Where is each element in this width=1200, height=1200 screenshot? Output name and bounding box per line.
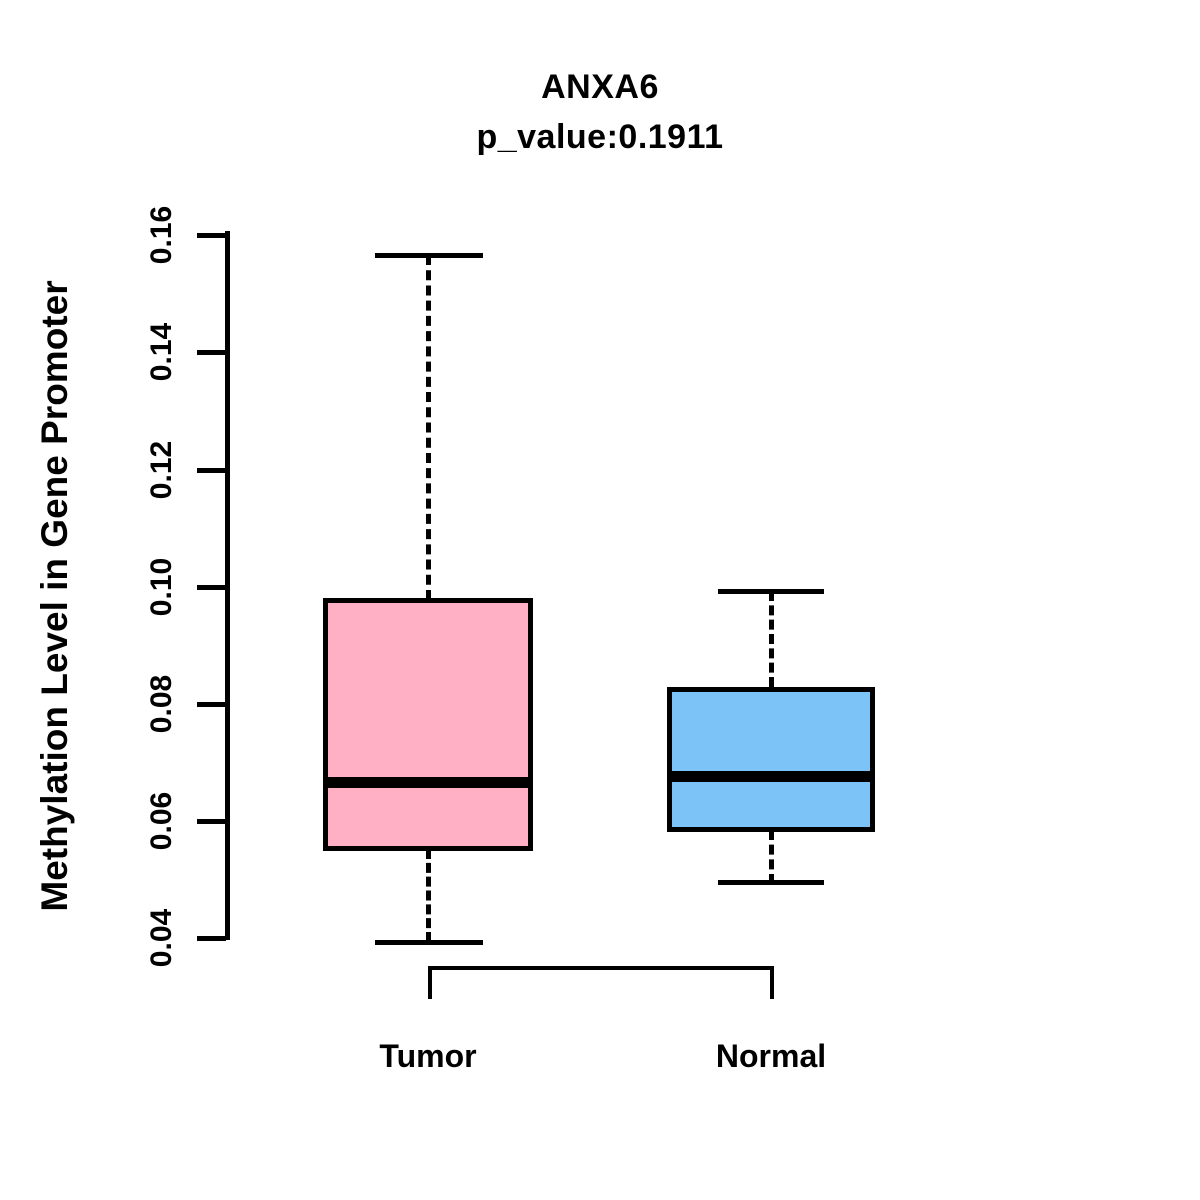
chart-title: ANXA6: [0, 68, 1200, 107]
tumor-lower-whisker: [426, 849, 431, 942]
y-tick-label: 0.04: [145, 883, 179, 993]
y-tick-mark: [197, 936, 226, 941]
significance-bracket-top: [428, 966, 774, 970]
y-tick-mark: [197, 702, 226, 707]
tumor-upper-whisker-cap: [375, 253, 483, 258]
significance-bracket-right-arm: [770, 966, 774, 999]
tumor-box[interactable]: [323, 598, 533, 851]
y-tick-label: 0.16: [145, 180, 179, 290]
y-tick-label: 0.08: [145, 649, 179, 759]
normal-median-line: [667, 771, 875, 782]
normal-lower-whisker: [769, 830, 774, 884]
normal-lower-whisker-cap: [718, 880, 824, 885]
y-tick-mark: [197, 468, 226, 473]
y-tick-label: 0.14: [145, 297, 179, 407]
significance-bracket-left-arm: [428, 966, 432, 999]
tumor-upper-whisker: [426, 255, 431, 600]
tumor-lower-whisker-cap: [375, 940, 483, 945]
y-tick-mark: [197, 819, 226, 824]
normal-upper-whisker-cap: [718, 589, 824, 594]
y-tick-label: 0.10: [145, 532, 179, 642]
boxplot-figure: ANXA6 p_value:0.1911 Methylation Level i…: [0, 0, 1200, 1200]
chart-subtitle-pvalue: p_value:0.1911: [0, 118, 1200, 157]
x-label-tumor: Tumor: [308, 1038, 548, 1075]
y-tick-label: 0.12: [145, 415, 179, 525]
x-label-normal: Normal: [651, 1038, 891, 1075]
y-tick-mark: [197, 350, 226, 355]
y-tick-label: 0.06: [145, 766, 179, 876]
normal-box[interactable]: [667, 687, 875, 832]
y-axis-title: Methylation Level in Gene Promoter: [34, 196, 76, 996]
y-tick-mark: [197, 233, 226, 238]
normal-upper-whisker: [769, 591, 774, 687]
y-tick-mark: [197, 585, 226, 590]
tumor-median-line: [323, 777, 533, 788]
